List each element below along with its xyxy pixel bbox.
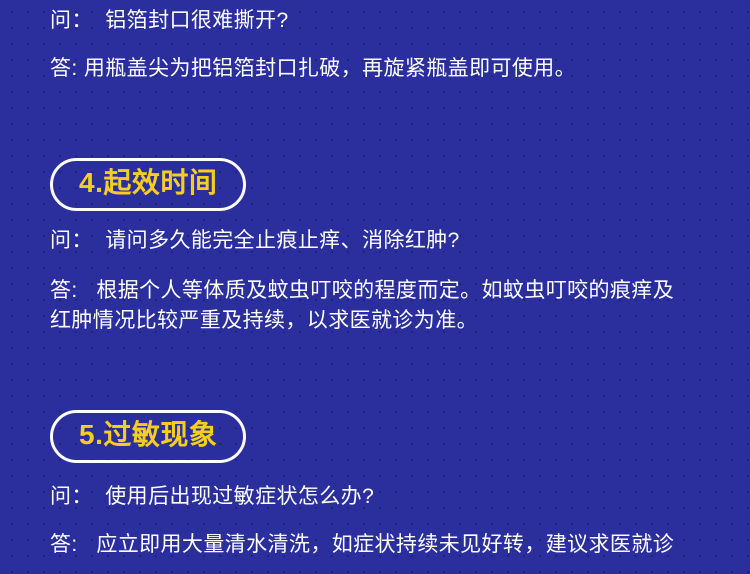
question-text: 问： 铝箔封口很难撕开?	[50, 6, 289, 36]
section-heading-label: 5.过敏现象	[79, 417, 217, 453]
answer-text: 答: 根据个人等体质及蚊虫叮咬的程度而定。如蚊虫叮咬的痕痒及红肿情况比较严重及持…	[50, 276, 690, 336]
section-heading-label: 4.起效时间	[79, 165, 217, 201]
answer-text: 答: 用瓶盖尖为把铝箔封口扎破，再旋紧瓶盖即可使用。	[50, 54, 576, 84]
question-text: 问： 请问多久能完全止痕止痒、消除红肿?	[50, 226, 460, 256]
section-heading-pill-4: 4.起效时间	[50, 158, 246, 211]
question-text: 问： 使用后出现过敏症状怎么办?	[50, 482, 374, 512]
faq-page: 问： 铝箔封口很难撕开? 答: 用瓶盖尖为把铝箔封口扎破，再旋紧瓶盖即可使用。 …	[0, 0, 750, 574]
answer-text: 答: 应立即用大量清水清洗，如症状持续未见好转，建议求医就诊	[50, 530, 690, 560]
section-heading-pill-5: 5.过敏现象	[50, 410, 246, 463]
